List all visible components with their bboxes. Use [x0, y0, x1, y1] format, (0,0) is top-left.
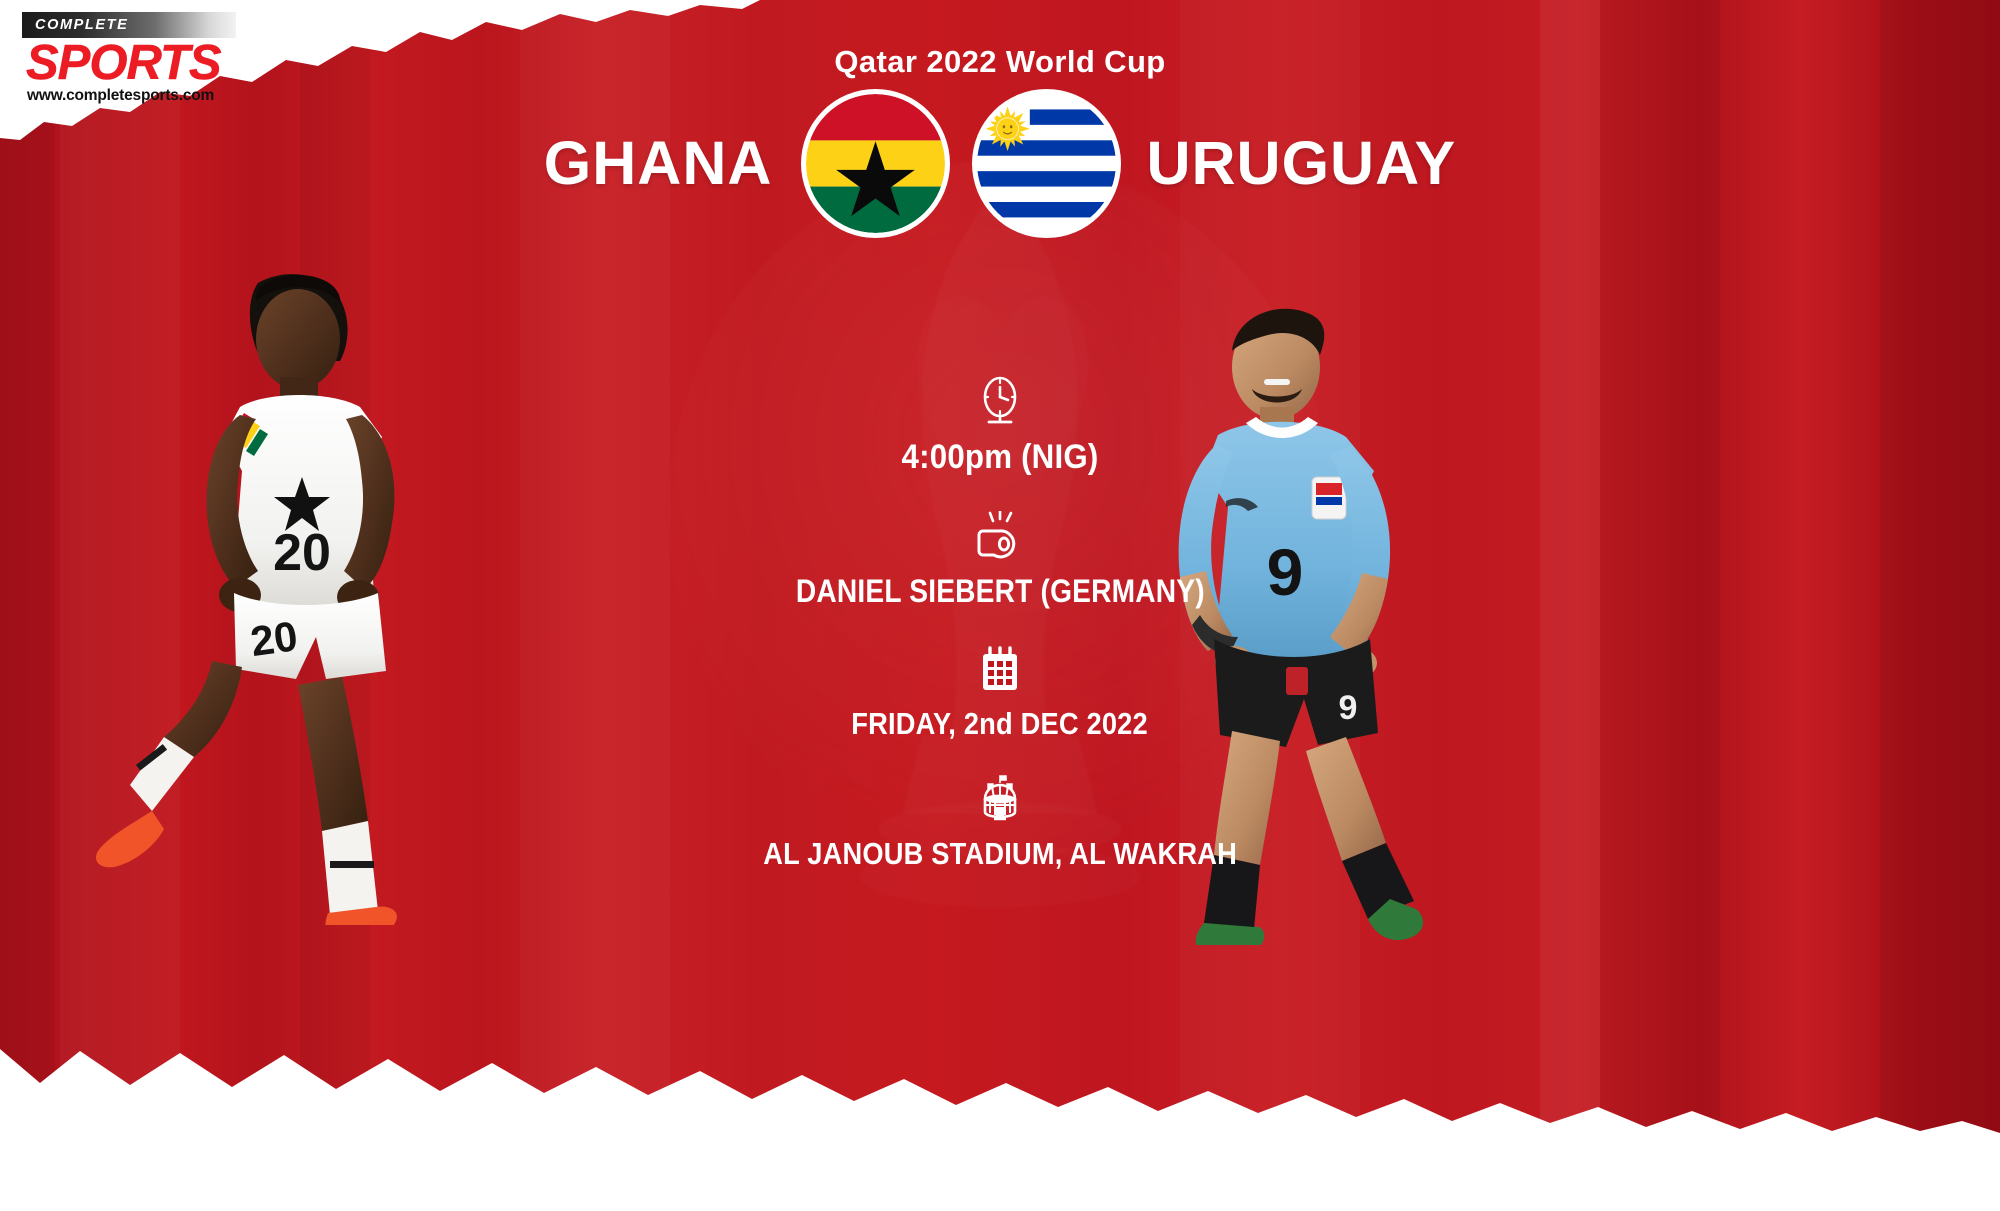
detail-row-referee: DANIEL SIEBERT (GERMANY) [768, 511, 1233, 610]
stadium-icon [974, 774, 1026, 824]
site-logo[interactable]: COMPLETE SPORTS www.completesports.com [22, 12, 262, 105]
torn-paper-edge-bottom [0, 881, 2000, 1211]
whistle-icon [973, 511, 1027, 561]
calendar-icon [977, 644, 1023, 694]
logo-complete-text: COMPLETE [22, 17, 128, 33]
uruguay-flag-icon [977, 94, 1116, 233]
venue-text: AL JANOUB STADIUM, AL WAKRAH [763, 836, 1237, 872]
logo-top-bar: COMPLETE [22, 12, 236, 38]
detail-row-venue: AL JANOUB STADIUM, AL WAKRAH [731, 774, 1269, 872]
match-details: 4:00pm (NIG) DANIEL SIEBERT (GERMANY) [731, 376, 1269, 872]
match-time-text: 4:00pm (NIG) [902, 438, 1099, 477]
poster-content: Qatar 2022 World Cup GHANA [0, 0, 2000, 872]
match-date-text: FRIDAY, 2nd DEC 2022 [852, 706, 1149, 742]
referee-text: DANIEL SIEBERT (GERMANY) [796, 573, 1205, 610]
ghana-flag-icon [806, 94, 945, 233]
logo-website-url: www.completesports.com [22, 87, 262, 105]
away-team-name: URUGUAY [1146, 133, 1456, 194]
logo-sports-text: SPORTS [22, 40, 262, 86]
poster-canvas: COMPLETE SPORTS www.completesports.com [0, 0, 2000, 1211]
tournament-title: Qatar 2022 World Cup [834, 44, 1165, 80]
detail-row-date: FRIDAY, 2nd DEC 2022 [831, 644, 1168, 742]
detail-row-time: 4:00pm (NIG) [893, 376, 1107, 477]
clock-icon [978, 376, 1022, 426]
home-team-name: GHANA [544, 133, 773, 194]
matchup-header: GHANA [544, 94, 1456, 233]
